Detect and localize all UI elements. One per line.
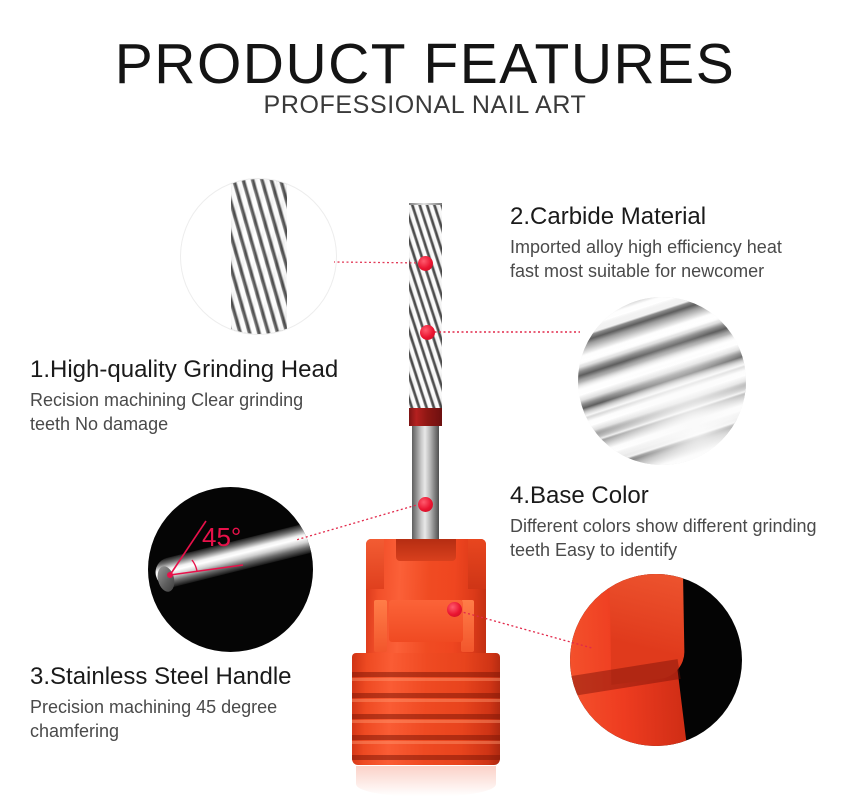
connector-dot-carbide-material bbox=[420, 325, 435, 340]
bit-stainless-shank bbox=[412, 426, 439, 552]
feature-description: Imported alloy high efficiency heat fast… bbox=[510, 235, 840, 283]
base-rib bbox=[352, 755, 500, 760]
base-collar-right bbox=[468, 539, 486, 589]
feature-heading: 3.Stainless Steel Handle bbox=[30, 662, 430, 692]
base-groove-left bbox=[374, 600, 387, 652]
feature-block-grinding-head: 1.High-quality Grinding Head Recision ma… bbox=[30, 355, 430, 436]
feature-heading: 1.High-quality Grinding Head bbox=[30, 355, 430, 385]
connector-dot-grinding-head bbox=[418, 256, 433, 271]
base-reflection bbox=[356, 766, 496, 796]
feature-description: Precision machining 45 degree chamfering bbox=[30, 695, 430, 743]
feature-heading: 4.Base Color bbox=[510, 481, 845, 511]
product-features-infographic: PRODUCT FEATURES PROFESSIONAL NAIL ART 4… bbox=[0, 0, 850, 809]
base-collar-left bbox=[366, 539, 384, 589]
feature-block-carbide-material: 2.Carbide Material Imported alloy high e… bbox=[510, 202, 840, 283]
base-shank-slot bbox=[396, 539, 456, 561]
feature-block-stainless-steel-handle: 3.Stainless Steel Handle Precision machi… bbox=[30, 662, 430, 743]
feature-description: Recision machining Clear grinding teeth … bbox=[30, 388, 430, 436]
connector-dot-base-color bbox=[447, 602, 462, 617]
connector-dot-stainless-handle bbox=[418, 497, 433, 512]
feature-heading: 2.Carbide Material bbox=[510, 202, 840, 232]
feature-description: Different colors show different grinding… bbox=[510, 514, 845, 562]
feature-block-base-color: 4.Base Color Different colors show diffe… bbox=[510, 481, 845, 562]
